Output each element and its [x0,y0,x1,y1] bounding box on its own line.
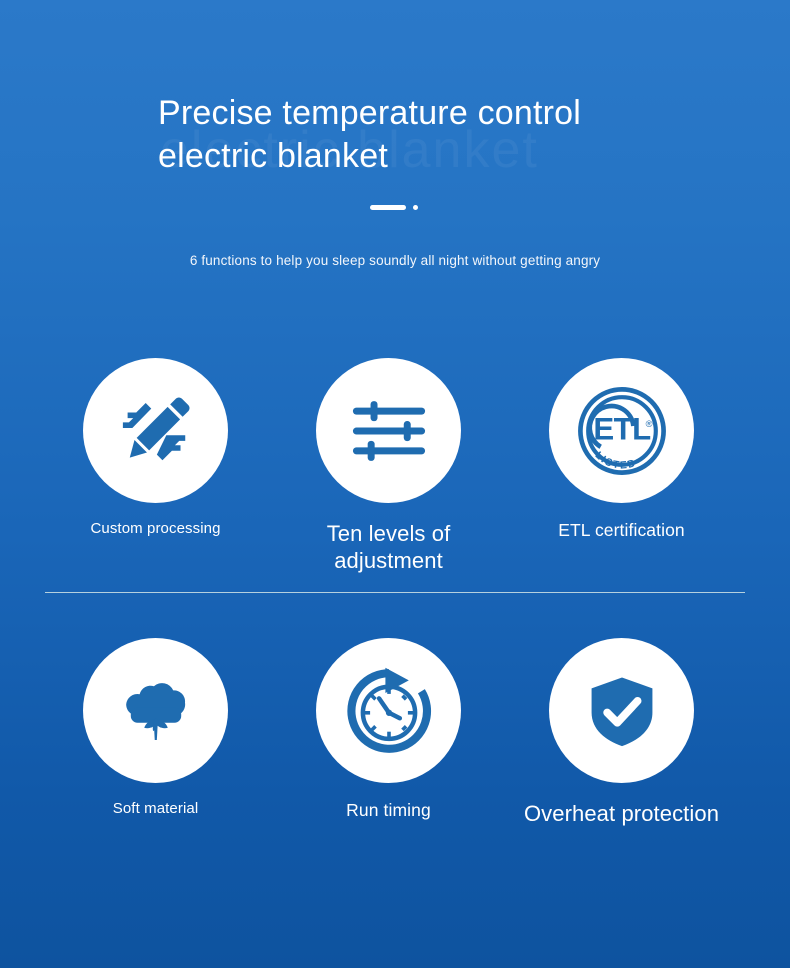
pencil-ruler-icon [113,388,199,474]
feature-item-etl-certification: ETL ® LISTED ETL certification [505,358,738,575]
feature-icon-circle: ETL ® LISTED [549,358,694,503]
feature-label: ETL certification [517,520,727,542]
cotton-boll-icon [114,669,198,753]
timer-clock-icon [344,666,434,756]
page-title-line-2: electric blanket [158,135,718,178]
feature-label: Run timing [284,800,494,822]
feature-item-ten-levels: Ten levels of adjustment [272,358,505,575]
feature-icon-circle [316,638,461,783]
shield-check-icon [583,672,661,750]
section-divider [45,592,745,593]
accent-dot [413,205,418,210]
page-title: Precise temperature control electric bla… [158,92,718,178]
feature-item-overheat-protection: Overheat protection [505,638,738,827]
feature-icon-circle [83,638,228,783]
feature-label: Ten levels of adjustment [284,520,494,575]
feature-label: Soft material [51,800,261,819]
etl-listed-icon: ETL ® LISTED [570,379,674,483]
feature-row-1: Custom processing [0,358,790,575]
accent-bar [370,205,406,210]
feature-item-soft-material: Soft material [39,638,272,827]
sliders-icon [348,390,430,472]
feature-item-custom-processing: Custom processing [39,358,272,575]
feature-icon-circle [83,358,228,503]
feature-icon-circle [549,638,694,783]
feature-icon-circle [316,358,461,503]
feature-label: Overheat protection [517,800,727,827]
page-title-line-1: Precise temperature control [158,92,718,135]
svg-text:ETL: ETL [593,411,651,446]
feature-banner: electric blanket Precise temperature con… [0,0,790,968]
page-subtitle: 6 functions to help you sleep soundly al… [0,253,790,268]
feature-item-run-timing: Run timing [272,638,505,827]
feature-row-2: Soft material [0,638,790,827]
title-accent-mark [370,205,418,210]
svg-text:®: ® [645,418,652,428]
feature-label: Custom processing [51,520,261,539]
